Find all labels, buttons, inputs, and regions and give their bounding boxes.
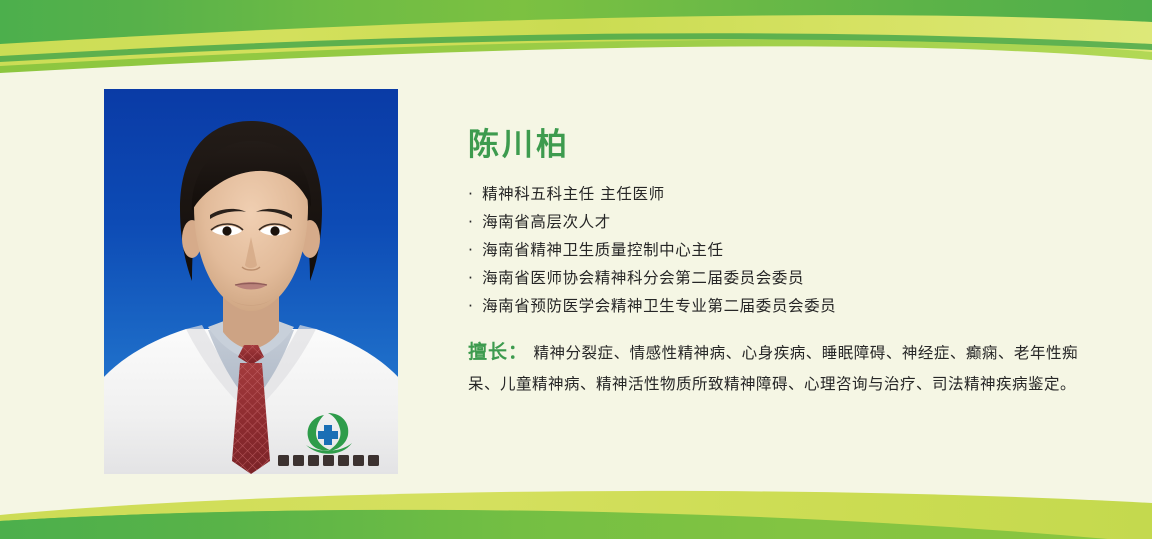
specialty-section: 擅长： 精神分裂症、情感性精神病、心身疾病、睡眠障碍、神经症、癫痫、老年性痴呆、… [468,337,1078,400]
list-item: · 海南省高层次人才 [468,208,1088,236]
specialty-label: 擅长： [468,341,528,363]
band-bottom-green-fill [0,510,1152,539]
credential-text: 海南省医师协会精神科分会第二届委员会委员 [482,269,804,287]
doctor-name: 陈川柏 [468,128,1088,162]
list-item: · 精神科五科主任 主任医师 [468,180,1088,208]
doctor-portrait-photo [104,89,398,474]
specialty-text: 精神分裂症、情感性精神病、心身疾病、睡眠障碍、神经症、癫痫、老年性痴呆、儿童精神… [468,344,1078,393]
credentials-list: · 精神科五科主任 主任医师 · 海南省高层次人才 · 海南省精神卫生质量控制中… [468,180,1088,320]
credential-text: 海南省高层次人才 [482,213,611,231]
credential-text: 海南省预防医学会精神卫生专业第二届委员会委员 [482,297,836,315]
band-top-green [0,0,1152,44]
list-item: · 海南省预防医学会精神卫生专业第二届委员会委员 [468,292,1088,320]
doctor-info-block: 陈川柏 · 精神科五科主任 主任医师 · 海南省高层次人才 · 海南省精神卫生质… [468,128,1088,400]
bullet-icon: · [468,213,474,231]
portrait-svg [104,89,398,474]
band-top-edge-line [0,33,1152,62]
band-top-light-green [0,0,1152,73]
bullet-icon: · [468,241,474,259]
credential-text: 精神科五科主任 主任医师 [482,185,665,203]
bullet-icon: · [468,297,474,315]
list-item: · 海南省医师协会精神科分会第二届委员会委员 [468,264,1088,292]
doctor-profile-banner: 陈川柏 · 精神科五科主任 主任医师 · 海南省高层次人才 · 海南省精神卫生质… [0,0,1152,539]
list-item: · 海南省精神卫生质量控制中心主任 [468,236,1088,264]
credential-text: 海南省精神卫生质量控制中心主任 [482,241,724,259]
band-bottom-green [0,510,1152,539]
hospital-logo-text [278,455,379,466]
bullet-icon: · [468,185,474,203]
band-bottom-yellow-green [0,491,1152,539]
band-top-yellow-green [0,0,1152,66]
bullet-icon: · [468,269,474,287]
